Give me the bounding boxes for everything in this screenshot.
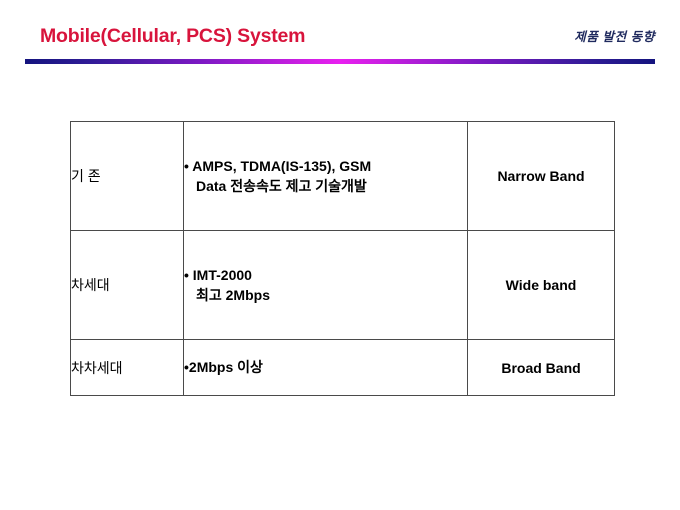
generation-label: 차차세대 [71, 340, 184, 396]
header-divider-rule [25, 59, 655, 64]
header-subtitle: 제품 발전 동향 [574, 31, 655, 44]
description-line: 최고 2Mbps [184, 285, 467, 305]
description-cell: • AMPS, TDMA(IS-135), GSM Data 전송속도 제고 기… [184, 122, 468, 231]
table-row: 기 존 • AMPS, TDMA(IS-135), GSM Data 전송속도 … [71, 122, 615, 231]
description-cell: • IMT-2000 최고 2Mbps [184, 231, 468, 340]
band-label: Narrow Band [468, 122, 615, 231]
generation-label: 기 존 [71, 122, 184, 231]
table-row: 차세대 • IMT-2000 최고 2Mbps Wide band [71, 231, 615, 340]
description-line: • AMPS, TDMA(IS-135), GSM [184, 158, 371, 174]
description-line: • IMT-2000 [184, 267, 252, 283]
generation-label: 차세대 [71, 231, 184, 340]
band-label: Wide band [468, 231, 615, 340]
table-row: 차차세대 •2Mbps 이상 Broad Band [71, 340, 615, 396]
generation-comparison-table: 기 존 • AMPS, TDMA(IS-135), GSM Data 전송속도 … [70, 121, 615, 396]
page-title: Mobile(Cellular, PCS) System [40, 27, 305, 47]
description-cell: •2Mbps 이상 [184, 340, 468, 396]
band-label: Broad Band [468, 340, 615, 396]
slide-header: Mobile(Cellular, PCS) System 제품 발전 동향 [0, 0, 680, 70]
slide-canvas: Mobile(Cellular, PCS) System 제품 발전 동향 기 … [0, 0, 680, 510]
description-line: •2Mbps 이상 [184, 359, 263, 375]
description-line: Data 전송속도 제고 기술개발 [184, 176, 467, 196]
